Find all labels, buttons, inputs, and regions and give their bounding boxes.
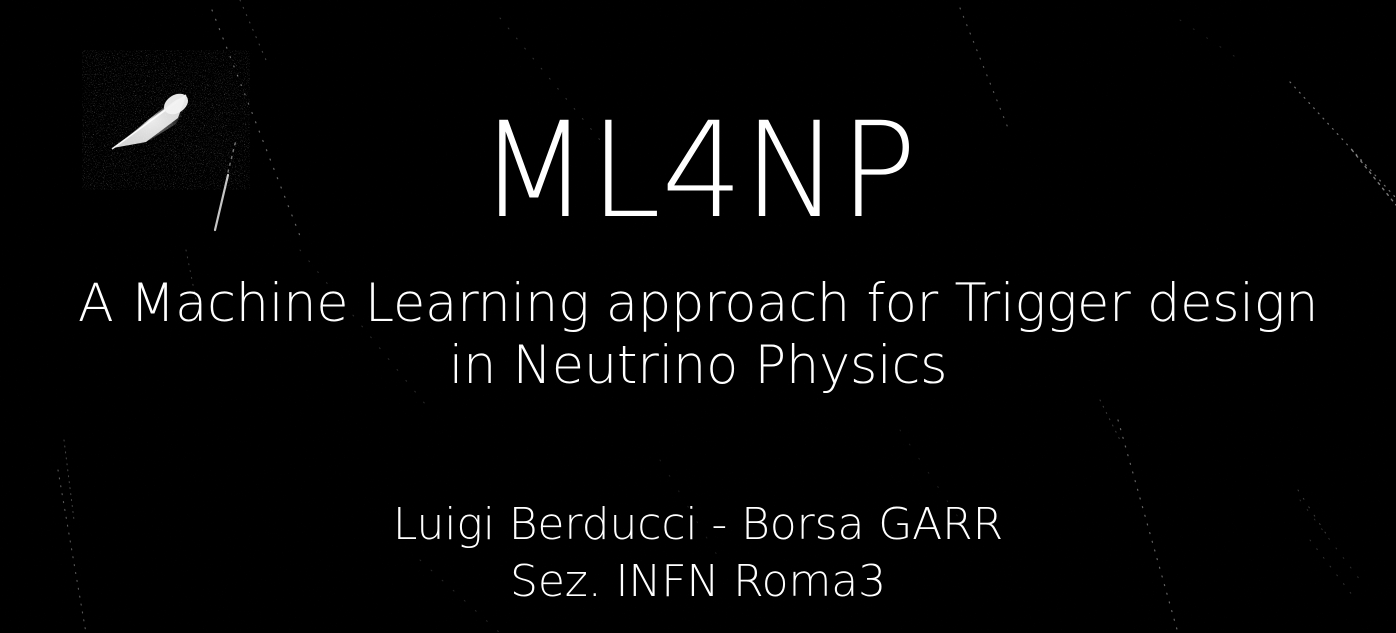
author-affiliation: Sez. INFN Roma3: [0, 553, 1396, 610]
subtitle-line-2: in Neutrino Physics: [0, 335, 1396, 397]
slide-subtitle: A Machine Learning approach for Trigger …: [0, 273, 1396, 397]
page-title: ML4NP: [21, 105, 1375, 237]
author-name: Luigi Berducci - Borsa GARR: [0, 496, 1396, 553]
subtitle-line-1: A Machine Learning approach for Trigger …: [0, 273, 1396, 335]
author-block: Luigi Berducci - Borsa GARR Sez. INFN Ro…: [0, 496, 1396, 610]
title-slide: ML4NP A Machine Learning approach for Tr…: [0, 0, 1396, 633]
slide-content: ML4NP A Machine Learning approach for Tr…: [0, 0, 1396, 633]
